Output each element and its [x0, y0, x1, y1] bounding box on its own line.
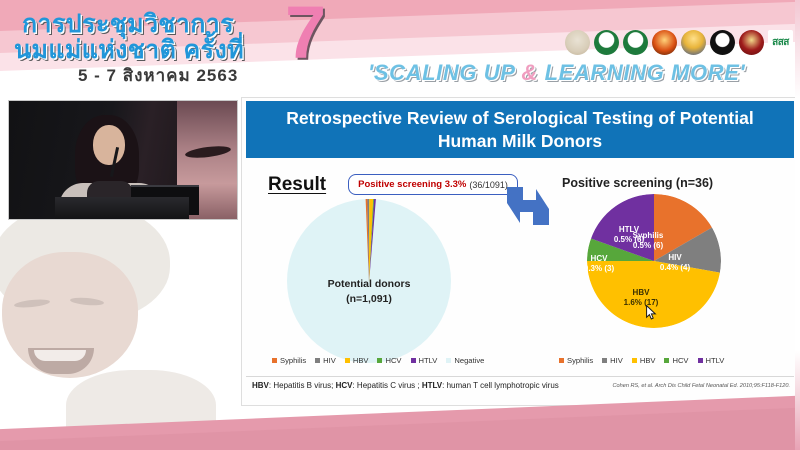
ministry-health-logo	[594, 30, 619, 55]
legend-swatch-syphilis	[272, 358, 277, 363]
legend-label-hiv-right: HIV	[610, 356, 623, 365]
slide-title: Retrospective Review of Serological Test…	[246, 101, 794, 158]
result-heading: Result	[268, 174, 326, 196]
red-crest-logo	[739, 30, 764, 55]
legend-label-htlv: HTLV	[419, 356, 438, 365]
legend-item-htlv-right: HTLV	[698, 356, 725, 365]
footnote-htlv-value: : human T cell lymphotropic virus	[442, 381, 559, 390]
conference-tagline: 'SCALING UP & LEARNING MORE'	[368, 60, 745, 86]
legend-item-syphilis-right: Syphilis	[559, 356, 593, 365]
slice-label-hcv-name: HCV	[576, 254, 622, 264]
legend-swatch-htlv	[411, 358, 416, 363]
legend-swatch-hiv	[315, 358, 320, 363]
slide-content-panel: Retrospective Review of Serological Test…	[241, 97, 799, 406]
legend-label-negative: Negative	[454, 356, 484, 365]
source-citation: Cohen RS, et al. Arch Dis Child Fetal Ne…	[612, 383, 790, 389]
speaker-face	[93, 125, 125, 165]
callout-highlight-text: Positive screening 3.3%	[358, 179, 466, 190]
legend-potential-donors: Syphilis HIV HBV HCV HTLV Negative	[272, 356, 484, 365]
conference-header-banner: การประชุมวิชาการ นมแม่แห่งชาติ ครั้งที่ …	[0, 0, 800, 95]
slice-label-hbv-name: HBV	[610, 288, 672, 298]
potential-donors-pie-chart: Potential donors (n=1,091)	[287, 199, 451, 363]
speaker-webcam-feed[interactable]	[8, 100, 238, 220]
legend-item-negative: Negative	[446, 356, 484, 365]
sponsor-logos-row: สสส	[565, 26, 795, 58]
footnote-hcv-key: HCV	[336, 381, 353, 390]
positive-screening-callout: Positive screening 3.3% (36/1091)	[348, 174, 518, 195]
legend-item-hcv-right: HCV	[664, 356, 688, 365]
legend-item-syphilis: Syphilis	[272, 356, 306, 365]
royal-emblem-logo	[565, 30, 590, 55]
legend-item-hcv: HCV	[377, 356, 401, 365]
legend-label-hbv: HBV	[353, 356, 369, 365]
slice-label-hbv-value: 1.6% (17)	[610, 298, 672, 308]
black-circle-emblem-logo	[710, 30, 735, 55]
legend-swatch-negative	[446, 358, 451, 363]
podium-base	[55, 197, 189, 220]
tagline-part2: LEARNING MORE'	[538, 60, 745, 85]
legend-swatch-hcv-right	[664, 358, 669, 363]
footnote-hbv-value: : Hepatitis B virus;	[269, 381, 336, 390]
legend-swatch-hcv	[377, 358, 382, 363]
mouse-cursor-icon	[646, 305, 657, 320]
positive-screening-chart-title: Positive screening (n=36)	[562, 176, 713, 190]
legend-swatch-hbv-right	[632, 358, 637, 363]
slice-label-hiv-value: 0.4% (4)	[647, 263, 703, 273]
legend-label-htlv-right: HTLV	[706, 356, 725, 365]
legend-label-hcv-right: HCV	[672, 356, 688, 365]
footnote-hcv-value: : Hepatitis C virus ;	[352, 381, 421, 390]
background-child-watermark-image	[0, 200, 250, 450]
positive-slivers-group	[362, 199, 376, 283]
slice-label-hbv: HBV 1.6% (17)	[610, 288, 672, 309]
legend-item-htlv: HTLV	[411, 356, 438, 365]
legend-label-syphilis: Syphilis	[280, 356, 306, 365]
potential-donors-label-line2: (n=1,091)	[287, 292, 451, 307]
potential-donors-label: Potential donors (n=1,091)	[287, 277, 451, 307]
legend-label-hiv: HIV	[323, 356, 336, 365]
watermark-teeth	[34, 350, 86, 361]
slice-label-hiv-name: HIV	[647, 253, 703, 263]
legend-item-hiv-right: HIV	[602, 356, 623, 365]
slice-label-hiv: HIV 0.4% (4)	[647, 253, 703, 274]
slice-label-hcv: HCV 0.3% (3)	[576, 254, 622, 275]
slice-label-htlv-value: 0.5% (6)	[604, 235, 654, 245]
legend-item-hbv-right: HBV	[632, 356, 656, 365]
thai-royal-crest-logo	[652, 30, 677, 55]
legend-label-hbv-right: HBV	[640, 356, 656, 365]
slice-label-htlv: HTLV 0.5% (6)	[604, 225, 654, 246]
legend-swatch-hbv	[345, 358, 350, 363]
legend-item-hiv: HIV	[315, 356, 336, 365]
conference-dates-thai: 5 - 7 สิงหาคม 2563	[78, 62, 238, 89]
slice-label-hcv-value: 0.3% (3)	[576, 264, 622, 274]
legend-swatch-htlv-right	[698, 358, 703, 363]
tagline-ampersand: &	[521, 60, 538, 85]
thaihealth-sss-logo: สสส	[768, 30, 793, 55]
legend-item-hbv: HBV	[345, 356, 369, 365]
footnote-htlv-key: HTLV	[422, 381, 442, 390]
department-health-logo	[623, 30, 648, 55]
garuda-crest-logo	[681, 30, 706, 55]
conference-edition-number: 7	[285, 0, 326, 70]
arrow-down-right-icon	[503, 181, 553, 229]
slice-label-htlv-name: HTLV	[604, 225, 654, 235]
legend-swatch-syphilis-right	[559, 358, 564, 363]
legend-label-syphilis-right: Syphilis	[567, 356, 593, 365]
abbreviation-footnote: HBV: Hepatitis B virus; HCV: Hepatitis C…	[252, 381, 559, 390]
presentation-screen: การประชุมวิชาการ นมแม่แห่งชาติ ครั้งที่ …	[0, 0, 800, 450]
potential-donors-label-line1: Potential donors	[287, 277, 451, 292]
legend-swatch-hiv-right	[602, 358, 607, 363]
tagline-part1: 'SCALING UP	[368, 60, 521, 85]
right-edge-strip	[795, 0, 800, 450]
footnote-hbv-key: HBV	[252, 381, 269, 390]
legend-label-hcv: HCV	[385, 356, 401, 365]
legend-positive-screening: Syphilis HIV HBV HCV HTLV	[559, 356, 724, 365]
footnote-divider	[246, 376, 794, 377]
